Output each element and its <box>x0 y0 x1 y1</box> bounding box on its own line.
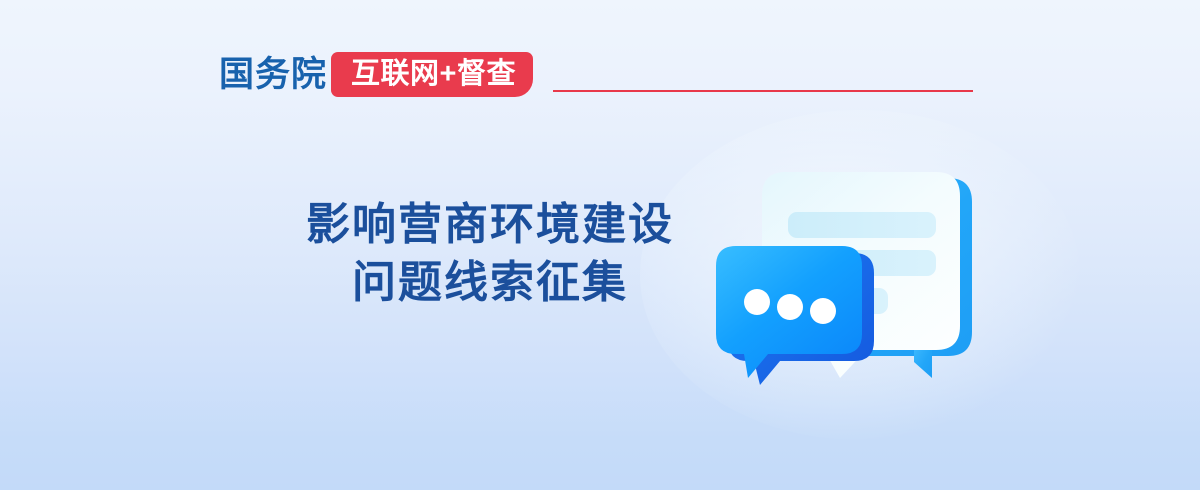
typing-dot-3 <box>810 298 836 324</box>
logo-badge-text: 互联网+督查 <box>351 60 516 89</box>
logo-lockup[interactable]: 国务院 互联网+督查 <box>219 48 533 100</box>
banner-root: 国务院 互联网+督查 影响营商环境建设 问题线索征集 <box>0 0 1200 490</box>
content-bar-1 <box>788 212 936 238</box>
logo-divider-rule <box>553 90 973 92</box>
logo-badge: 互联网+督查 <box>331 52 533 97</box>
typing-dot-2 <box>777 294 803 320</box>
typing-dot-1 <box>744 289 770 315</box>
speech-bubbles-illustration <box>700 150 1000 400</box>
logo-gov-text: 国务院 <box>219 57 333 92</box>
